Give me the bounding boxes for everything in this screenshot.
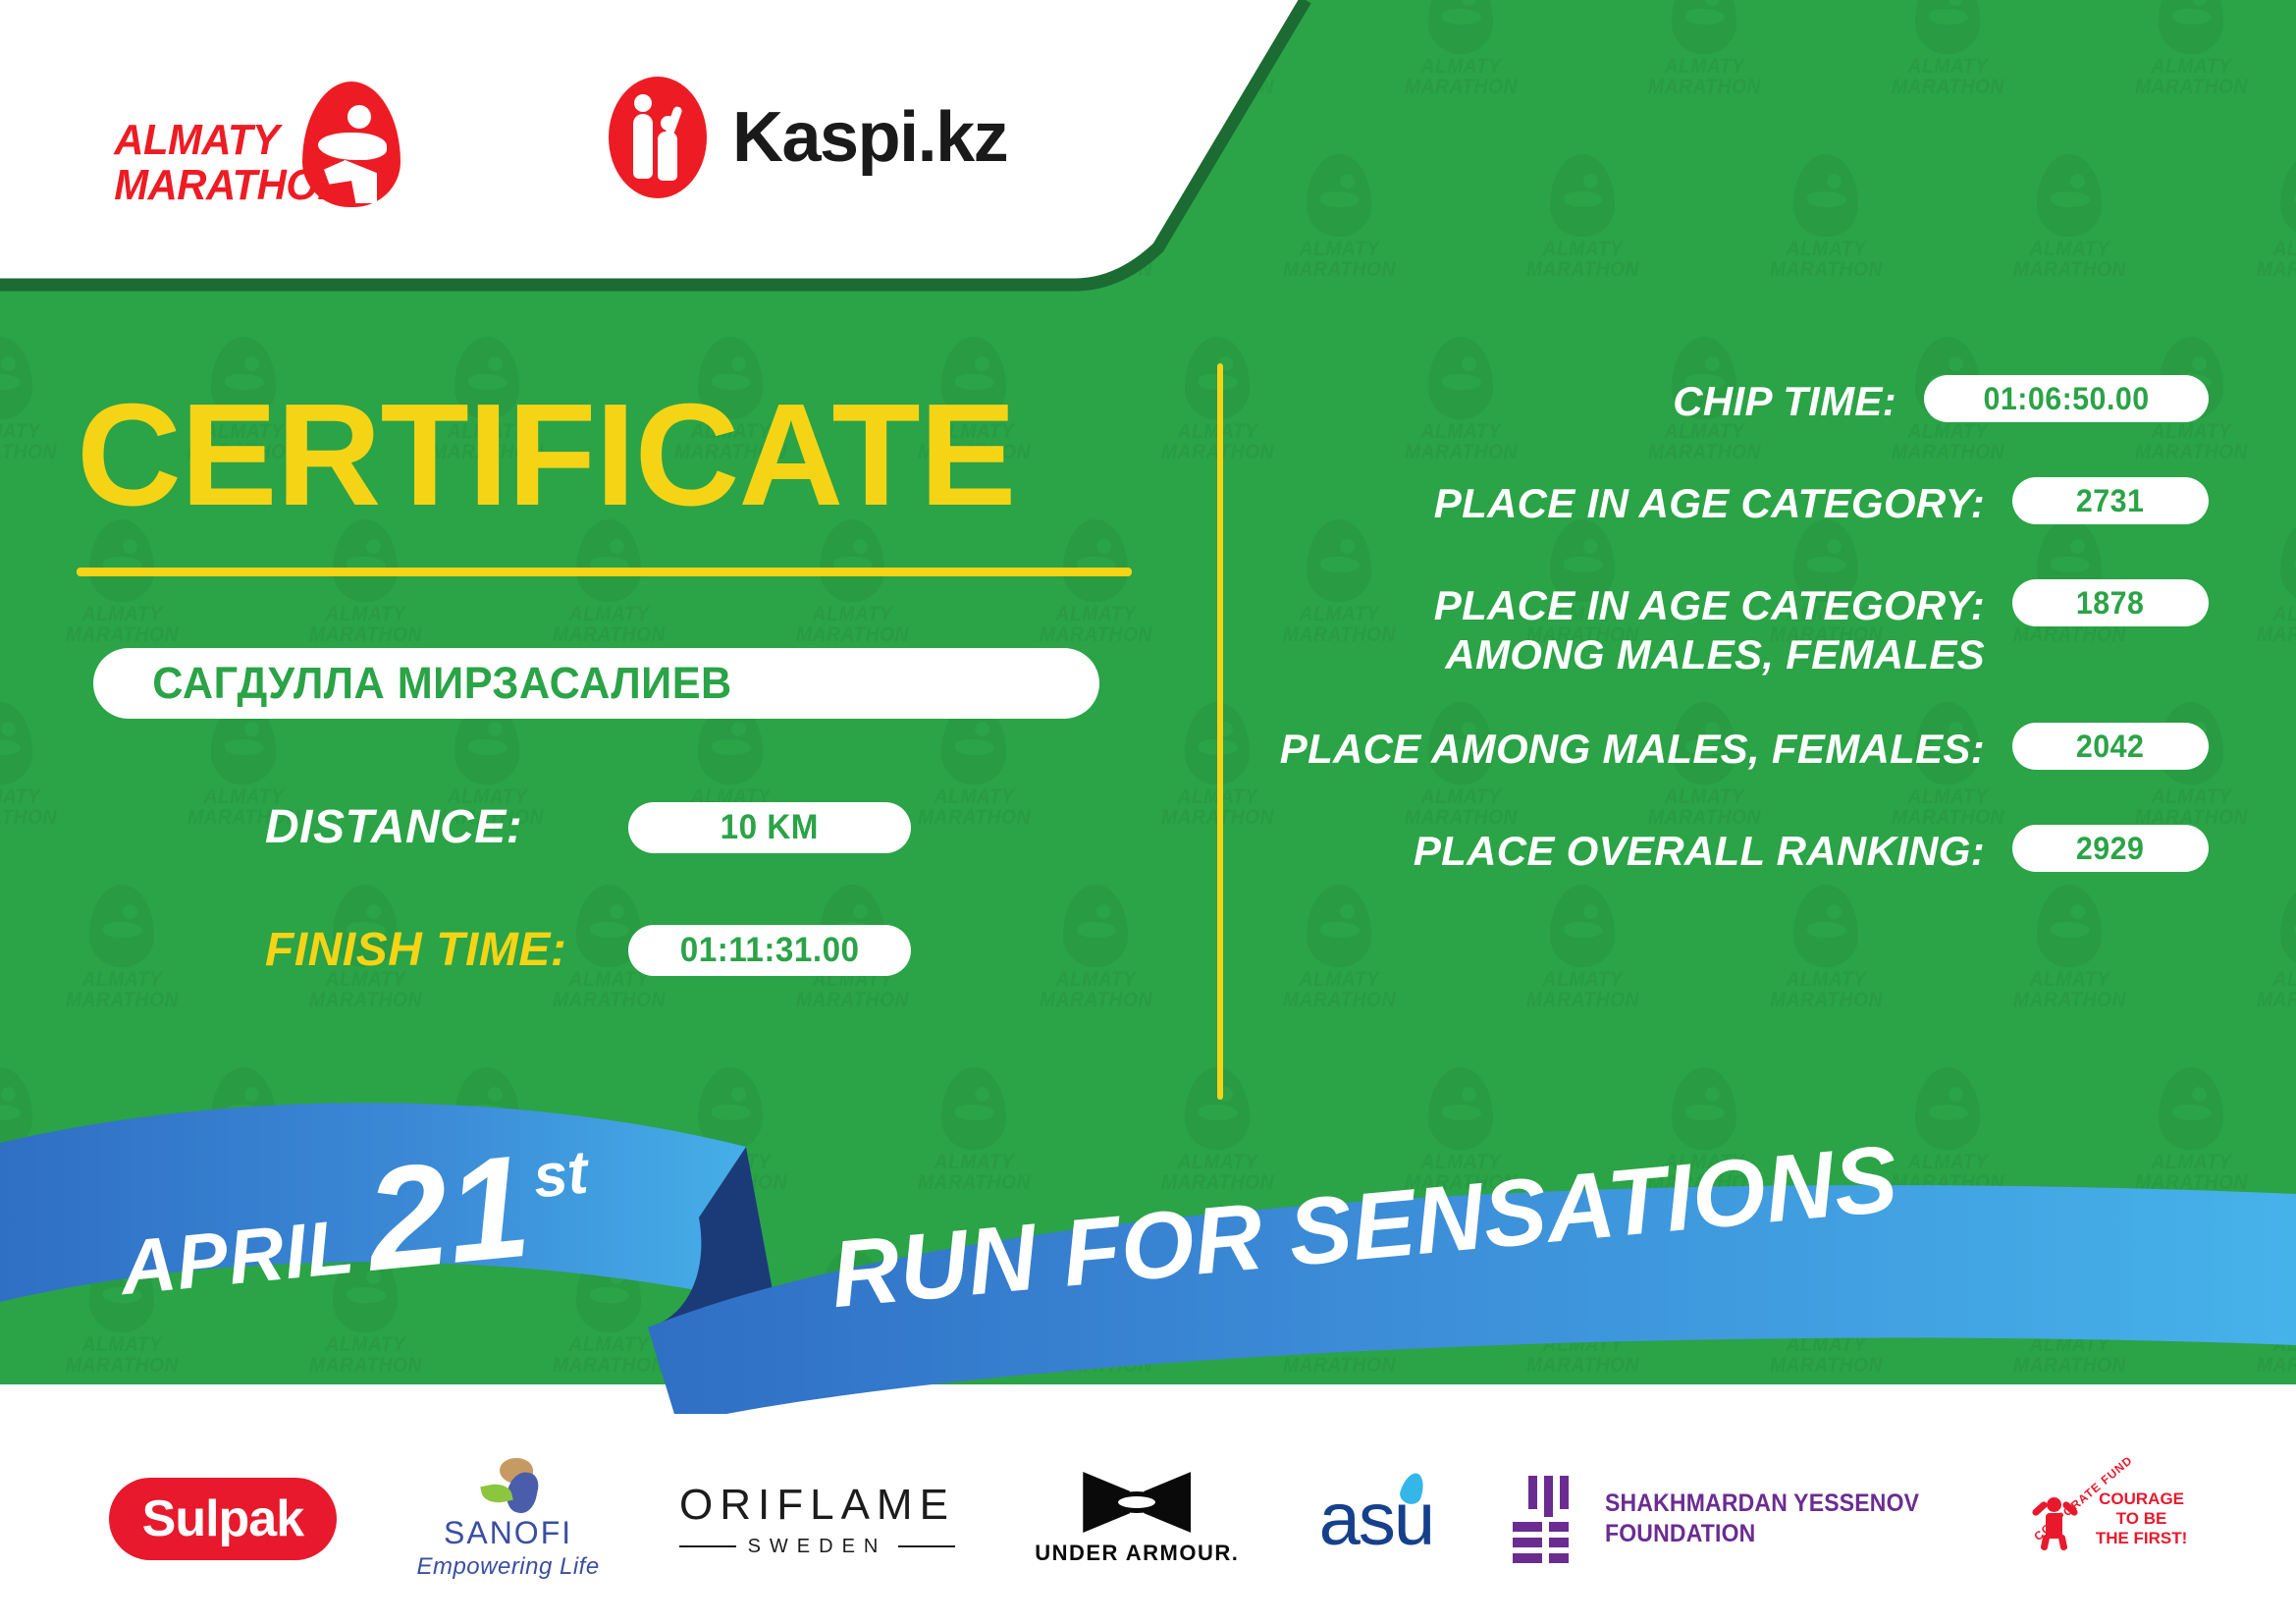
oriflame-rule-left — [679, 1545, 736, 1547]
watermark-text: ALMATYMARATHON — [2013, 969, 2126, 1010]
yessenov-block — [1549, 1553, 1569, 1563]
stat-value-pill: 2042 — [2012, 723, 2209, 770]
yessenov-line1: SHAKHMARDAN YESSENOV — [1605, 1489, 1919, 1519]
yessenov-block-rows — [1513, 1522, 1583, 1563]
participant-name-field: САГДУЛЛА МИРЗАСАЛИЕВ — [93, 648, 1099, 719]
courage-left-leg — [2040, 1534, 2050, 1550]
kaspi-adult-head — [634, 94, 652, 112]
watermark-text: ALMATYMARATHON — [1892, 1152, 2004, 1193]
results-stats-column: CHIP TIME:01:06:50.00PLACE IN AGE CATEGO… — [1276, 373, 2209, 925]
stat-row: PLACE IN AGE CATEGORY: AMONG MALES, FEMA… — [1276, 577, 2209, 679]
courage-line1: COURAGE — [2096, 1489, 2188, 1509]
watermark-text: ALMATYMARATHON — [2257, 604, 2296, 645]
event-day-suffix: st — [530, 1138, 591, 1213]
stat-label: PLACE IN AGE CATEGORY: — [1276, 475, 2012, 528]
almaty-marathon-logo: ALMATY MARATHON — [108, 64, 432, 211]
stat-value-pill: 01:06:50.00 — [1924, 375, 2209, 422]
certificate-page: ALMATYMARATHONALMATYMARATHONALMATYMARATH… — [0, 0, 2296, 1624]
yessenov-block-row — [1513, 1553, 1583, 1563]
sponsor-logo-sanofi: SANOFI Empowering Life — [416, 1458, 599, 1581]
yessenov-bar — [1528, 1476, 1537, 1509]
watermark-runner-drop-icon — [2280, 885, 2296, 967]
stat-value: 01:06:50.00 — [1983, 381, 2149, 417]
ua-center-hole — [1118, 1496, 1155, 1508]
page-title: CERTIFICATE — [77, 383, 1015, 528]
stat-value: 2929 — [2076, 831, 2145, 867]
event-day: 21 — [362, 1148, 534, 1280]
oriflame-sub-row: SWEDEN — [679, 1536, 955, 1558]
watermark-runner-drop-icon — [2037, 1250, 2102, 1332]
sponsor-logo-courage-fund: CORPORATE FUND COURAGE TO BE THE FIRST! — [2027, 1488, 2188, 1550]
stat-row: PLACE OVERALL RANKING:2929 — [1276, 823, 2209, 884]
watermark-runner-drop-icon — [1428, 1067, 1493, 1150]
sponsor-logo-under-armour: UNDER ARMOUR. — [1035, 1472, 1239, 1566]
distance-value: 10 KM — [721, 808, 819, 847]
stat-row: PLACE AMONG MALES, FEMALES:2042 — [1276, 721, 2209, 782]
participant-name-value: САГДУЛЛА МИРЗАСАЛИЕВ — [152, 658, 731, 709]
yessenov-bar — [1544, 1476, 1553, 1517]
watermark-tile: ALMATYMARATHON — [1971, 1239, 2167, 1384]
sanofi-tagline: Empowering Life — [416, 1553, 599, 1581]
courage-person-icon — [2027, 1488, 2082, 1550]
oriflame-wordmark: ORIFLAME — [679, 1481, 955, 1530]
stat-value: 2731 — [2076, 483, 2145, 519]
watermark-runner-drop-icon — [1672, 1067, 1736, 1150]
title-underline-rule — [77, 568, 1132, 576]
stat-label: PLACE AMONG MALES, FEMALES: — [1276, 721, 2012, 774]
kaspi-wordmark: Kaspi.kz — [732, 97, 1007, 178]
sanofi-icon — [476, 1458, 541, 1513]
finish-time-value: 01:11:31.00 — [680, 931, 860, 970]
watermark-runner-drop-icon — [1793, 1250, 1858, 1332]
watermark-text: ALMATYMARATHON — [2257, 1334, 2296, 1376]
sponsor-row: Sulpak SANOFI Empowering Life ORIFLAME S… — [0, 1414, 2296, 1624]
yessenov-block-row — [1513, 1538, 1583, 1547]
watermark-tile: ALMATYMARATHON — [2215, 874, 2296, 1021]
watermark-text: ALMATYMARATHON — [1283, 969, 1396, 1010]
distance-value-pill: 10 KM — [628, 802, 911, 853]
oriflame-rule-right — [898, 1545, 955, 1547]
watermark-text: ALMATYMARATHON — [1526, 969, 1639, 1010]
finish-time-row: FINISH TIME: 01:11:31.00 — [265, 923, 911, 977]
stat-value-pill: 2929 — [2012, 825, 2209, 872]
yessenov-block — [1513, 1522, 1542, 1532]
distance-row: DISTANCE: 10 KM — [265, 800, 911, 854]
watermark-text: ALMATYMARATHON — [2013, 1334, 2126, 1376]
kaspi-adult-body — [633, 114, 653, 179]
column-divider — [1217, 363, 1223, 1100]
watermark-text: ALMATYMARATHON — [1770, 969, 1883, 1010]
distance-label: DISTANCE: — [265, 800, 628, 854]
under-armour-wordmark: UNDER ARMOUR. — [1035, 1541, 1239, 1566]
stat-label: PLACE OVERALL RANKING: — [1276, 823, 2012, 876]
finish-time-label: FINISH TIME: — [265, 923, 628, 977]
watermark-text: ALMATYMARATHON — [1526, 1334, 1639, 1376]
sulpak-wordmark: Sulpak — [142, 1489, 304, 1548]
sanofi-wordmark: SANOFI — [444, 1515, 572, 1551]
watermark-text: ALMATYMARATHON — [1770, 1334, 1883, 1376]
kaspi-people-icon — [609, 77, 707, 198]
runner-torso-shape — [318, 133, 387, 160]
watermark-tile: ALMATYMARATHON — [2215, 509, 2296, 656]
yessenov-block — [1549, 1538, 1569, 1547]
yessenov-bar — [1560, 1476, 1569, 1509]
runner-drop-icon — [302, 81, 400, 207]
yessenov-foundation-wordmark: SHAKHMARDAN YESSENOV FOUNDATION — [1605, 1489, 1919, 1549]
stat-row: PLACE IN AGE CATEGORY:2731 — [1276, 475, 2209, 536]
stat-label: PLACE IN AGE CATEGORY: AMONG MALES, FEMA… — [1276, 577, 2012, 679]
finish-time-value-pill: 01:11:31.00 — [628, 925, 911, 976]
stat-value: 2042 — [2076, 729, 2145, 765]
watermark-runner-drop-icon — [1915, 1067, 1980, 1150]
yessenov-block — [1549, 1522, 1569, 1532]
watermark-text: ALMATYMARATHON — [1283, 1334, 1396, 1376]
yessenov-block — [1513, 1553, 1542, 1563]
stat-row: CHIP TIME:01:06:50.00 — [1276, 373, 2209, 434]
yessenov-block-row — [1513, 1522, 1583, 1532]
watermark-tile: ALMATYMARATHON — [2215, 1239, 2296, 1384]
runner-legs-shape — [324, 160, 377, 203]
watermark-text: ALMATYMARATHON — [2257, 969, 2296, 1010]
stat-value-pill: 1878 — [2012, 579, 2209, 626]
courage-head — [2047, 1497, 2061, 1512]
oriflame-sweden-label: SWEDEN — [748, 1536, 887, 1558]
yessenov-line2: FOUNDATION — [1605, 1519, 1919, 1549]
under-armour-icon — [1083, 1472, 1191, 1533]
yessenov-block — [1513, 1538, 1542, 1547]
runner-head-shape — [347, 105, 371, 129]
watermark-tile: ALMATYMARATHON — [2093, 1056, 2289, 1204]
watermark-runner-drop-icon — [2280, 1250, 2296, 1332]
sponsor-logo-shakhmardan-yessenov-foundation: SHAKHMARDAN YESSENOV FOUNDATION — [1513, 1476, 1947, 1563]
kaspi-child-body — [658, 132, 677, 181]
watermark-runner-drop-icon — [2280, 519, 2296, 602]
watermark-runner-drop-icon — [2159, 1067, 2223, 1150]
courage-right-leg — [2057, 1534, 2067, 1550]
watermark-text: ALMATYMARATHON — [2135, 1152, 2248, 1193]
yessenov-top-bars — [1513, 1476, 1583, 1517]
stat-value: 1878 — [2076, 585, 2145, 622]
courage-line3: THE FIRST! — [2096, 1529, 2188, 1548]
sponsor-logo-asu: asu — [1319, 1477, 1434, 1562]
sponsor-logo-oriflame: ORIFLAME SWEDEN — [679, 1481, 955, 1558]
courage-wordmark: COURAGE TO BE THE FIRST! — [2096, 1489, 2188, 1548]
watermark-tile: ALMATYMARATHON — [1728, 1239, 1924, 1384]
stat-value-pill: 2731 — [2012, 477, 2209, 524]
kaspi-logo: Kaspi.kz — [609, 77, 1007, 198]
header-logo-row: ALMATY MARATHON Kaspi.kz — [0, 0, 1276, 275]
yessenov-foundation-icon — [1513, 1476, 1583, 1563]
sponsor-logo-sulpak: Sulpak — [109, 1478, 338, 1560]
stat-label: CHIP TIME: — [1276, 373, 1924, 426]
courage-right-arm — [2061, 1500, 2079, 1517]
courage-line2: TO BE — [2096, 1509, 2188, 1529]
